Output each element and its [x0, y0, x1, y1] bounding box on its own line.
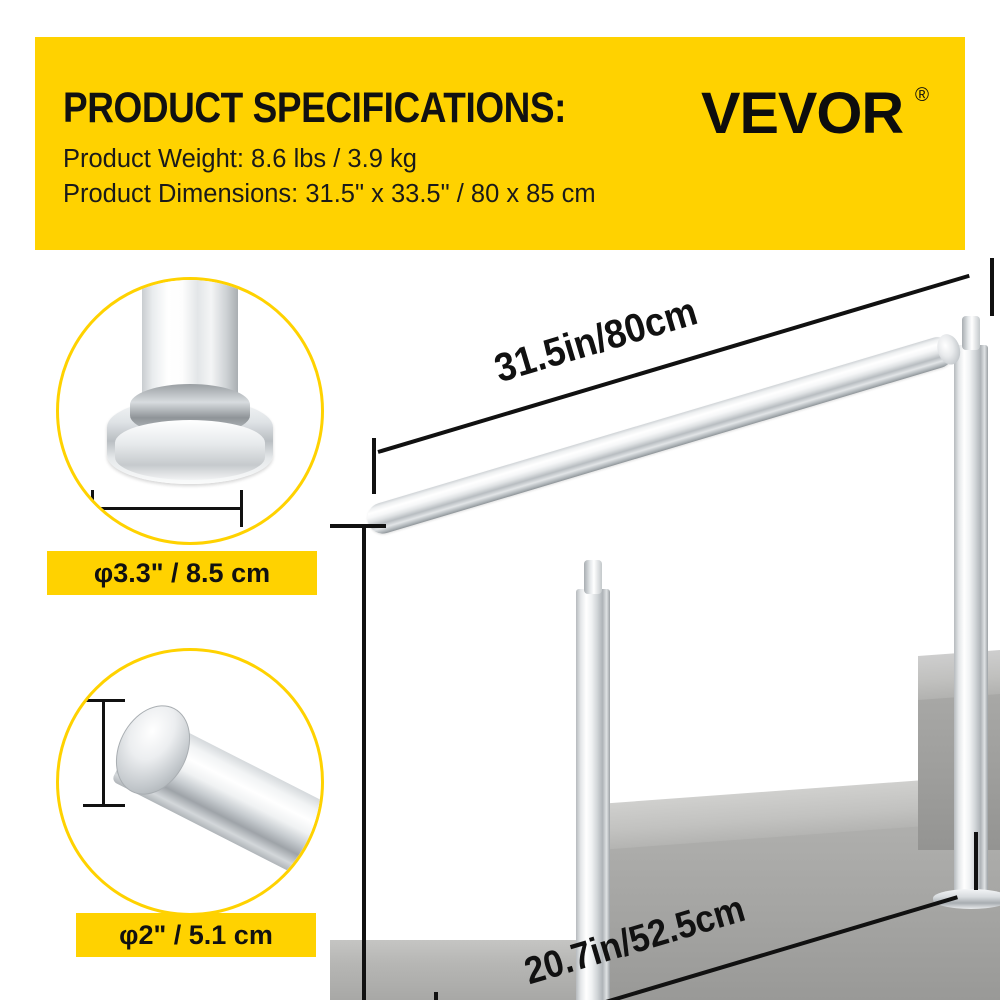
- swivel-joint-right: [962, 316, 980, 350]
- measure-bar: [91, 507, 243, 510]
- dimension-label-rail-length: 31.5in/80cm: [490, 289, 703, 392]
- measure-bar: [102, 699, 105, 807]
- page-title: PRODUCT SPECIFICATIONS:: [63, 87, 566, 130]
- spec-line-weight: Product Weight: 8.6 lbs / 3.9 kg: [63, 147, 417, 173]
- inset-handrail-tube-end: [56, 648, 324, 916]
- measure-cap-bottom: [83, 804, 125, 807]
- dimension-line-rail-height: [362, 526, 366, 1000]
- flange-lower-ring-graphic: [115, 420, 265, 480]
- dimension-cap-post-spacing-left: [434, 992, 438, 1000]
- flange-diameter-measure: [91, 488, 243, 528]
- handrail-post-right: [954, 345, 988, 898]
- product-spec-page: PRODUCT SPECIFICATIONS: Product Weight: …: [0, 0, 1000, 1000]
- dimension-cap-rail-length-right: [990, 258, 994, 316]
- measure-cap-top: [83, 699, 125, 702]
- spec-line-dimensions: Product Dimensions: 31.5" x 33.5" / 80 x…: [63, 182, 596, 208]
- product-scene: 31.5in/80cm 20.7in/52.5cm 33.5in/85cm: [330, 252, 1000, 1000]
- handrail-tube: [364, 333, 957, 537]
- tube-diameter-measure: [81, 699, 127, 807]
- header-banner: PRODUCT SPECIFICATIONS: Product Weight: …: [35, 37, 965, 250]
- dimension-cap-post-spacing-right: [974, 832, 978, 890]
- dimension-cap-rail-length-left: [372, 438, 376, 494]
- dimension-cap-rail-height-top: [330, 524, 386, 528]
- swivel-joint-left: [584, 560, 602, 594]
- registered-trademark-icon: ®: [915, 85, 929, 107]
- measure-cap-left: [91, 490, 94, 527]
- inset-post-base-flange: [56, 277, 324, 545]
- vevor-logo: VEVOR: [701, 85, 903, 143]
- badge-flange-diameter: φ3.3" / 8.5 cm: [47, 551, 317, 595]
- badge-tube-diameter: φ2" / 5.1 cm: [76, 913, 316, 957]
- measure-cap-right: [240, 490, 243, 527]
